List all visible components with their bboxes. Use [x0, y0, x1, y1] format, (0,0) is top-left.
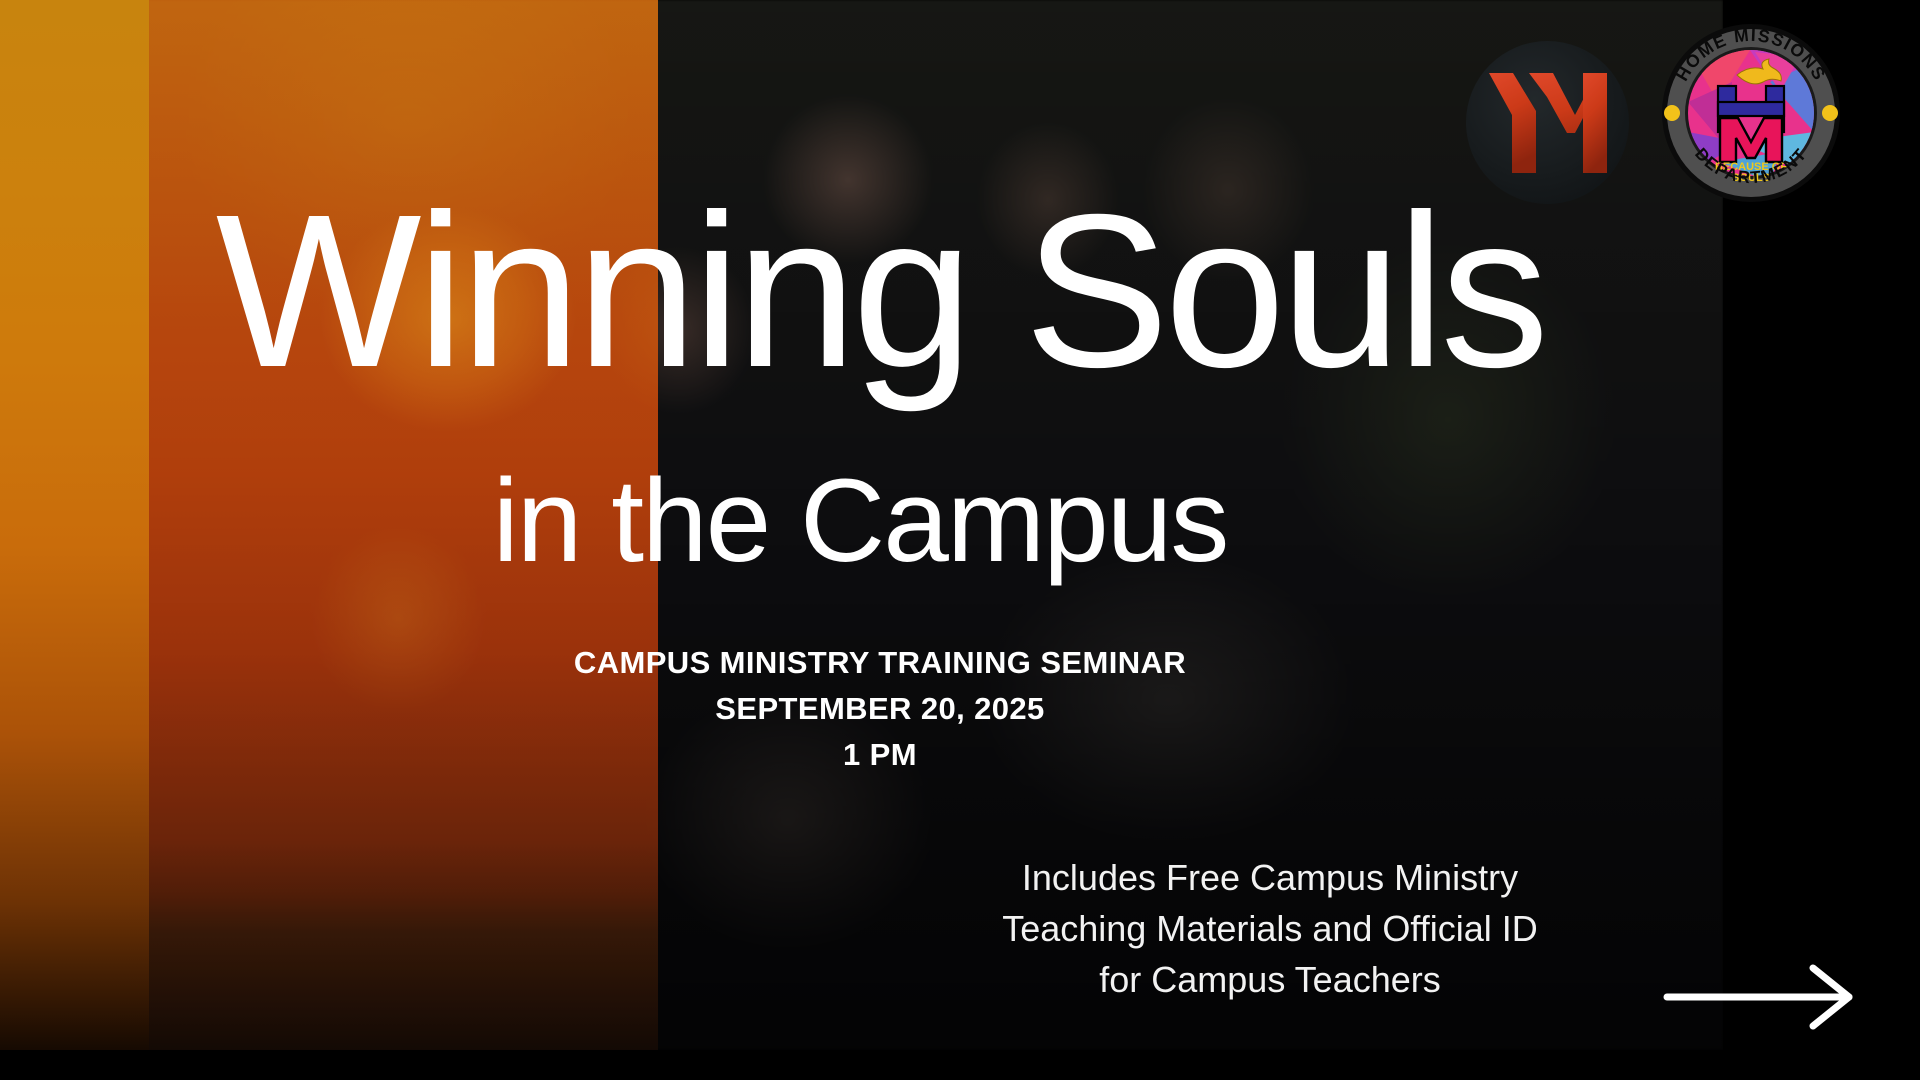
event-time: 1 PM: [0, 732, 1760, 778]
poster-title: Winning Souls: [0, 192, 1760, 393]
poster-canvas: Winning Souls in the Campus CAMPUS MINIS…: [0, 0, 1920, 1080]
poster-subtitle: in the Campus: [0, 462, 1720, 580]
event-subtitle: CAMPUS MINISTRY TRAINING SEMINAR: [0, 640, 1760, 686]
black-bottom-band: [0, 1050, 1920, 1080]
includes-line-1: Includes Free Campus Ministry: [930, 852, 1610, 903]
includes-line-2: Teaching Materials and Official ID: [930, 903, 1610, 954]
event-date: SEPTEMBER 20, 2025: [0, 686, 1760, 732]
event-details: CAMPUS MINISTRY TRAINING SEMINAR SEPTEMB…: [0, 640, 1760, 778]
includes-note: Includes Free Campus Ministry Teaching M…: [930, 852, 1610, 1005]
ym-logo: [1466, 41, 1629, 204]
home-missions-department-badge: BECAUSE OF SOULS HOME MISSIONS DEPARTMEN…: [1660, 22, 1842, 204]
right-arrow-icon: [1663, 962, 1863, 1032]
includes-line-3: for Campus Teachers: [930, 954, 1610, 1005]
